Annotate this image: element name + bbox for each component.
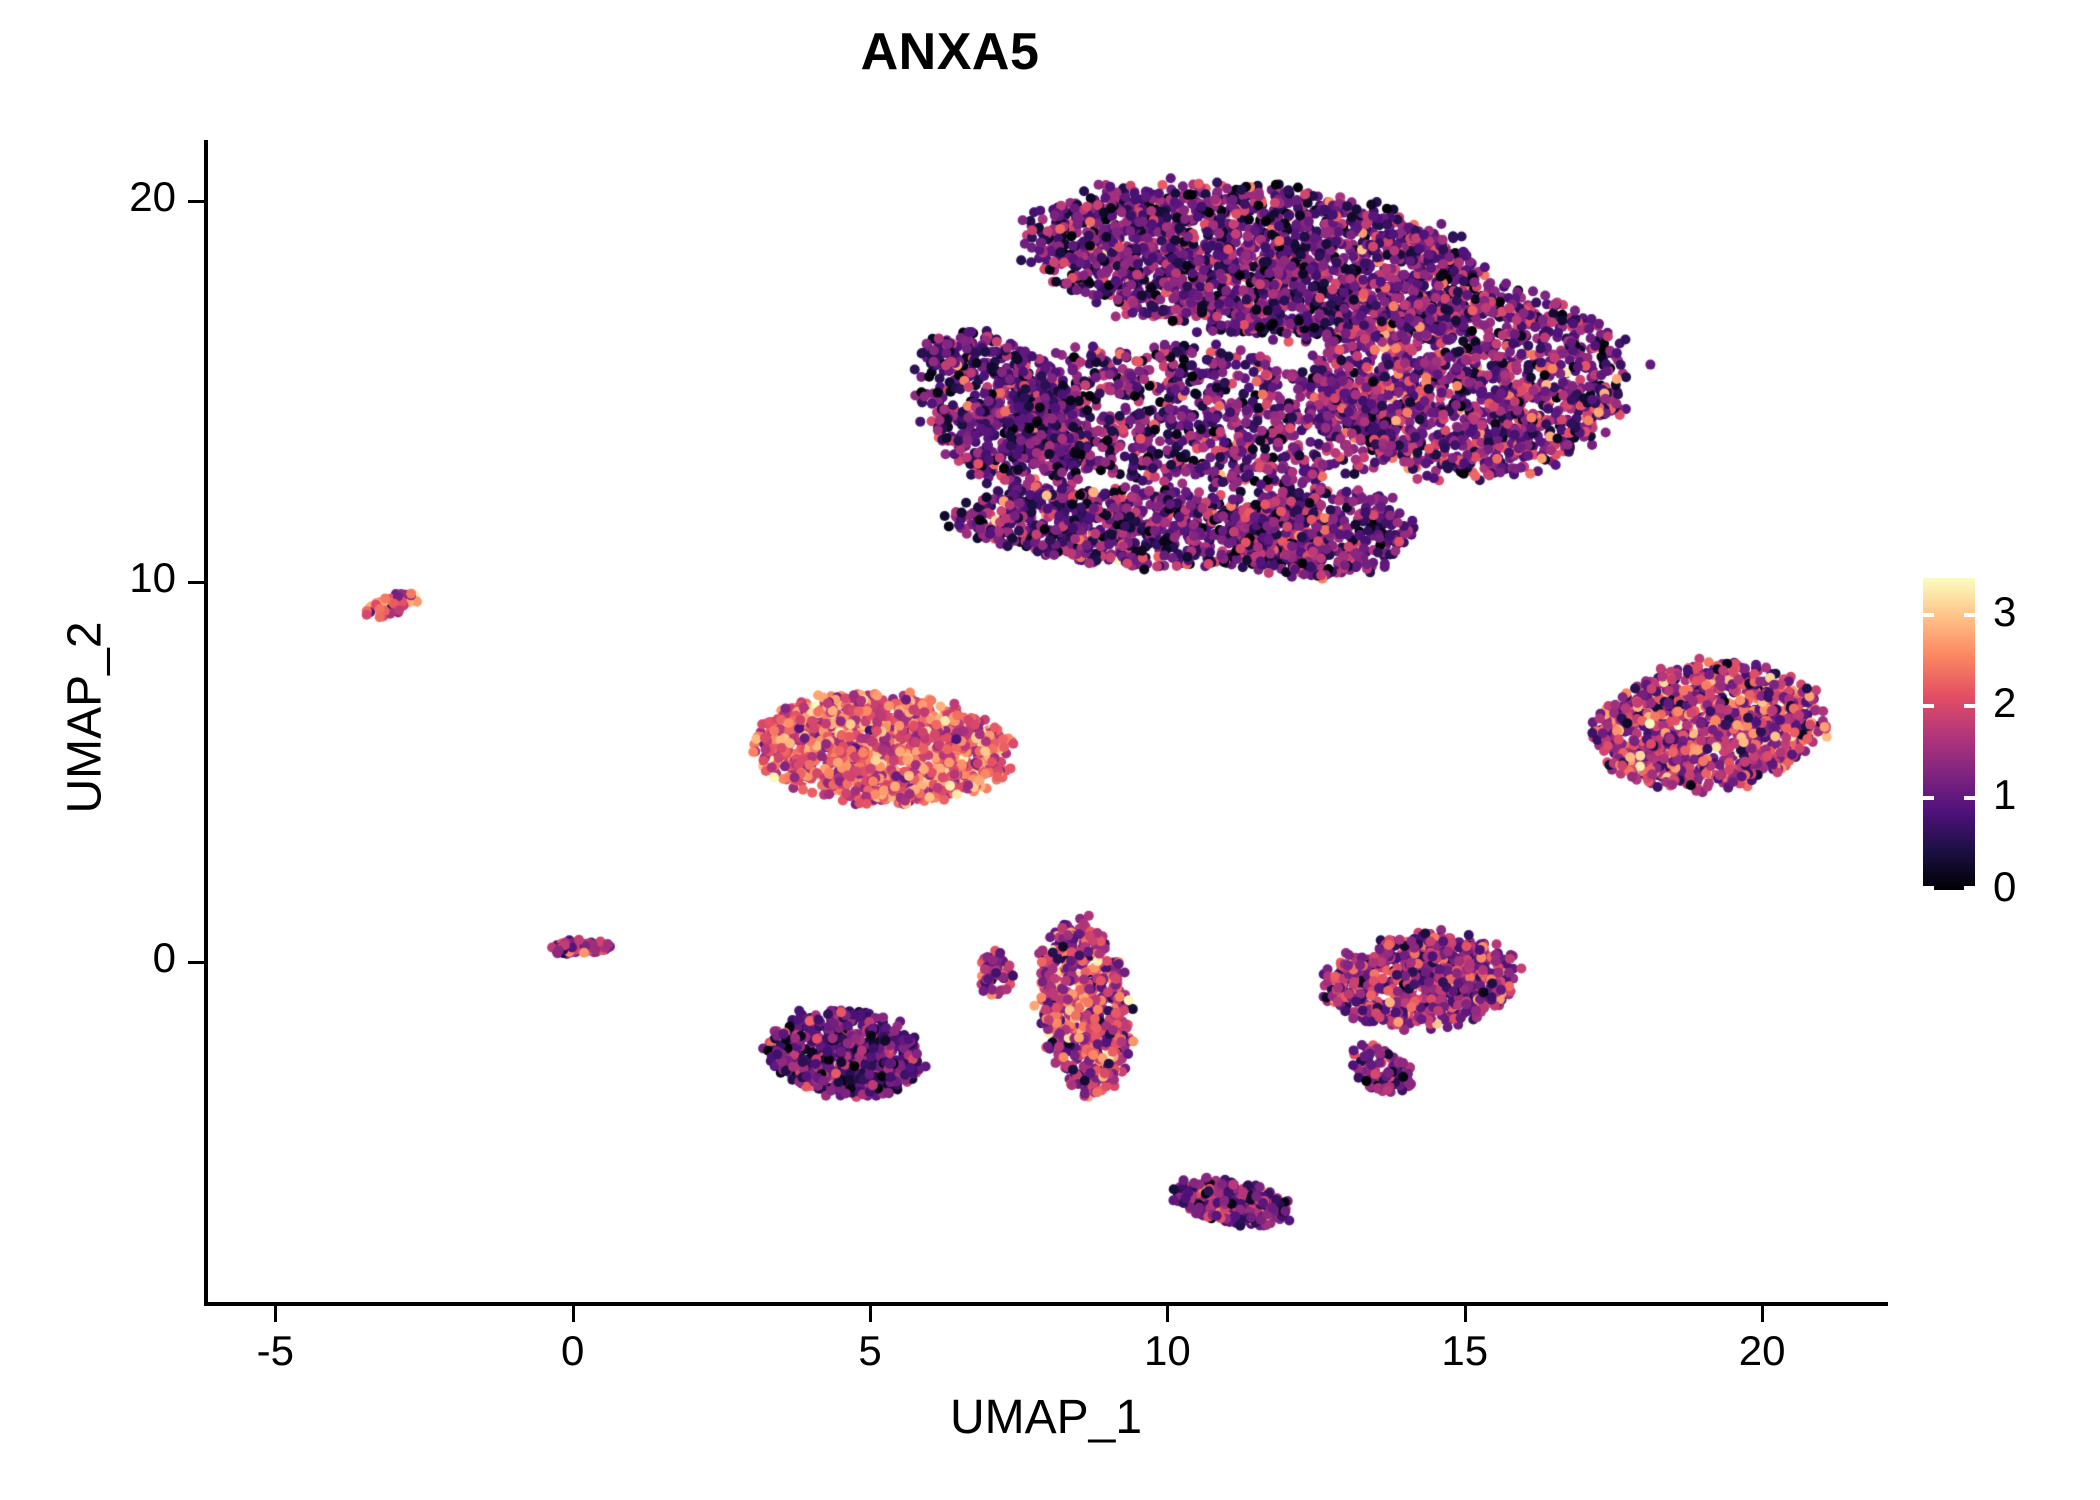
x-tick-mark: [1166, 1306, 1169, 1322]
x-tick-label: -5: [205, 1327, 345, 1375]
y-tick-mark: [188, 961, 204, 964]
x-tick-mark: [274, 1306, 277, 1322]
x-tick-label: 0: [503, 1327, 643, 1375]
colorbar-tick-mark: [1964, 704, 1975, 708]
colorbar-tick-label: 3: [1993, 591, 2016, 633]
y-tick-mark: [188, 200, 204, 203]
x-tick-label: 10: [1097, 1327, 1237, 1375]
y-tick-label: 20: [28, 173, 176, 221]
colorbar-tick-mark: [1923, 886, 1934, 890]
colorbar-tick-label: 0: [1993, 866, 2016, 908]
colorbar-tick-mark: [1964, 796, 1975, 800]
y-axis-line: [204, 140, 208, 1306]
x-tick-mark: [1761, 1306, 1764, 1322]
page-title: ANXA5: [0, 22, 1900, 82]
x-tick-mark: [869, 1306, 872, 1322]
x-axis-label: UMAP_1: [204, 1390, 1888, 1445]
colorbar-gradient: [1923, 578, 1975, 890]
y-axis-label: UMAP_2: [58, 368, 113, 1068]
x-tick-label: 20: [1692, 1327, 1832, 1375]
x-tick-label: 15: [1395, 1327, 1535, 1375]
x-tick-mark: [572, 1306, 575, 1322]
colorbar-tick-mark: [1964, 613, 1975, 617]
x-tick-label: 5: [800, 1327, 940, 1375]
plot-panel: [204, 140, 1887, 1305]
scatter-plot-canvas: [204, 140, 1887, 1305]
feature-plot-figure: ANXA5 -505101520 01020 UMAP_1 UMAP_2 321…: [0, 0, 2100, 1500]
colorbar-tick-mark: [1964, 886, 1975, 890]
colorbar-tick-label: 1: [1993, 774, 2016, 816]
x-tick-mark: [1464, 1306, 1467, 1322]
x-axis-line: [204, 1302, 1888, 1306]
colorbar-tick-label: 2: [1993, 682, 2016, 724]
y-tick-mark: [188, 581, 204, 584]
colorbar-tick-mark: [1923, 704, 1934, 708]
colorbar-tick-mark: [1923, 613, 1934, 617]
colorbar-tick-mark: [1923, 796, 1934, 800]
